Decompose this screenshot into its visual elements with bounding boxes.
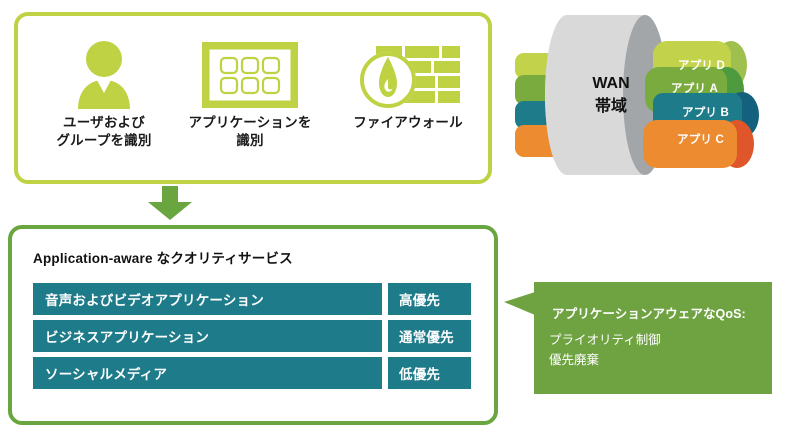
firewall-icon <box>333 36 483 114</box>
qos-app-name: ソーシャルメディア <box>33 357 382 389</box>
qos-priority-badge: 低優先 <box>388 357 471 389</box>
wan-label: WAN 帯域 <box>568 72 654 118</box>
feature-label: ユーザおよび グループを識別 <box>34 114 174 150</box>
callout-body: プライオリティ制御 優先廃棄 <box>549 330 661 370</box>
feature-label: アプリケーションを 識別 <box>175 114 325 150</box>
pipe-label-app-b: アプリ B <box>682 104 729 120</box>
pipe-label-app-a: アプリ A <box>671 80 718 96</box>
feature-firewall: ファイアウォール <box>333 36 483 132</box>
pipe-label-app-c: アプリ C <box>677 131 724 147</box>
table-row[interactable]: ソーシャルメディア 低優先 <box>33 357 471 389</box>
down-arrow-icon <box>145 186 195 222</box>
application-grid-icon <box>175 36 325 114</box>
pipe-label-app-d: アプリ D <box>678 57 725 73</box>
table-row[interactable]: ビジネスアプリケーション 通常優先 <box>33 320 471 352</box>
table-row[interactable]: 音声およびビデオアプリケーション 高優先 <box>33 283 471 315</box>
feature-label: ファイアウォール <box>333 114 483 132</box>
user-group-icon <box>34 36 174 114</box>
callout-title: アプリケーションアウェアなQoS: <box>552 303 746 322</box>
page-title: Application-aware なクオリティサービス <box>33 247 293 267</box>
qos-app-name: ビジネスアプリケーション <box>33 320 382 352</box>
qos-priority-badge: 高優先 <box>388 283 471 315</box>
qos-table: 音声およびビデオアプリケーション 高優先 ビジネスアプリケーション 通常優先 ソ… <box>33 283 471 394</box>
qos-priority-badge: 通常優先 <box>388 320 471 352</box>
diagram-canvas: ユーザおよび グループを識別 アプリケーションを 識別 <box>0 0 787 435</box>
feature-application: アプリケーションを 識別 <box>175 36 325 150</box>
feature-user-group: ユーザおよび グループを識別 <box>34 36 174 150</box>
qos-app-name: 音声およびビデオアプリケーション <box>33 283 382 315</box>
callout-pointer-icon <box>504 292 535 315</box>
